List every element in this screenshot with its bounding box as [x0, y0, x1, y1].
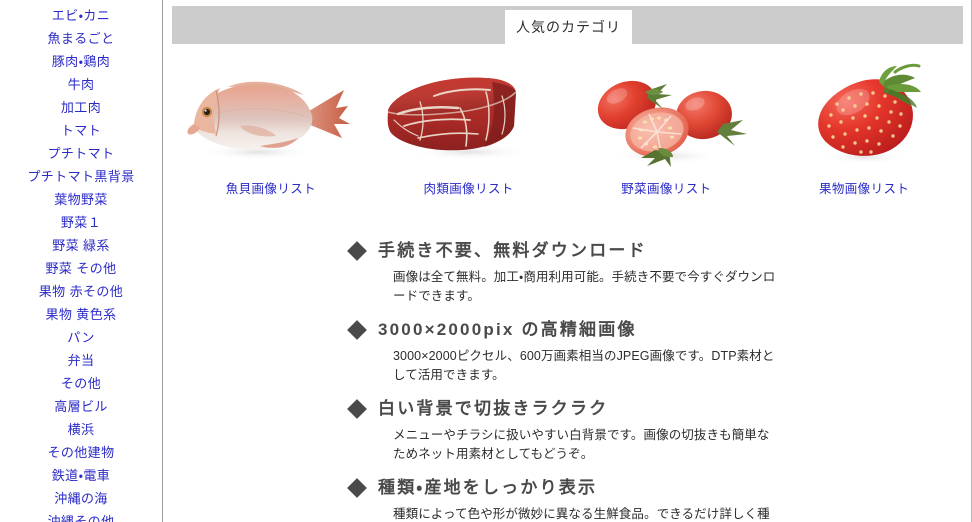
sidebar-item-fruits-yellow[interactable]: 果物 黄色系: [0, 303, 162, 326]
sidebar-item-yokohama[interactable]: 横浜: [0, 418, 162, 441]
diamond-bullet-icon: [347, 320, 367, 340]
sidebar-item-vegetables-other[interactable]: 野菜 その他: [0, 257, 162, 280]
category-thumbnail-strip: 魚貝画像リスト: [172, 62, 963, 202]
feature-white-background: 白い背景で切抜きラクラク メニューやチラシに扱いやすい白背景です。画像の切抜きも…: [350, 396, 800, 464]
feature-heading: 種類・産地をしっかり表示: [378, 475, 597, 501]
header-band: 人気のカテゴリ: [172, 6, 963, 44]
feature-heading: 手続き不要、無料ダウンロード: [378, 238, 647, 264]
tomatoes-icon: [571, 62, 761, 170]
beef-block-photo: [374, 62, 564, 170]
features-list: 手続き不要、無料ダウンロード 画像は全て無料。加工・商用利用可能。手続き不要で今…: [350, 238, 800, 522]
feature-heading: 3000×2000pix の高精細画像: [378, 317, 637, 343]
sea-bream-icon: [176, 62, 366, 170]
diamond-bullet-icon: [347, 478, 367, 498]
sidebar-item-butaniku-toriniku[interactable]: 豚肉・鶏肉: [0, 50, 162, 73]
feature-heading: 白い背景で切抜きラクラク: [378, 396, 608, 422]
feature-body: 画像は全て無料。加工・商用利用可能。手続き不要で今すぐダウンロードできます。: [393, 268, 778, 306]
sidebar-item-skyscraper[interactable]: 高層ビル: [0, 395, 162, 418]
sidebar-item-other[interactable]: その他: [0, 372, 162, 395]
sidebar-item-tomato[interactable]: トマト: [0, 119, 162, 142]
feature-variety-origin: 種類・産地をしっかり表示 種類によって色や形が微妙に異なる生鮮食品。できるだけ詳…: [350, 475, 800, 522]
feature-body: メニューやチラシに扱いやすい白背景です。画像の切抜きも簡単なためネット用素材とし…: [393, 426, 778, 464]
category-label-meat: 肉類画像リスト: [423, 178, 513, 197]
sidebar-item-sakana-marugoto[interactable]: 魚まるごと: [0, 27, 162, 50]
sidebar-item-okinawa-other[interactable]: 沖縄その他: [0, 510, 162, 522]
category-card-fruit[interactable]: 果物画像リスト: [765, 62, 963, 202]
feature-free-download: 手続き不要、無料ダウンロード 画像は全て無料。加工・商用利用可能。手続き不要で今…: [350, 238, 800, 306]
sidebar-item-ebi-kani[interactable]: エビ・カニ: [0, 4, 162, 27]
sidebar-item-railway-train[interactable]: 鉄道・電車: [0, 464, 162, 487]
sidebar-item-petit-tomato-black-bg[interactable]: プチトマト黒背景: [0, 165, 162, 188]
diamond-bullet-icon: [347, 241, 367, 261]
sidebar-item-petit-tomato[interactable]: プチトマト: [0, 142, 162, 165]
sidebar-item-okinawa-sea[interactable]: 沖縄の海: [0, 487, 162, 510]
category-card-fish[interactable]: 魚貝画像リスト: [172, 62, 370, 202]
sidebar-item-vegetables-1[interactable]: 野菜１: [0, 211, 162, 234]
page-root: エビ・カニ 魚まるごと 豚肉・鶏肉 牛肉 加工肉 トマト プチトマト プチトマト…: [0, 0, 972, 522]
feature-heading-row: 3000×2000pix の高精細画像: [350, 317, 800, 343]
tomatoes-photo: [571, 62, 761, 170]
sidebar-item-fruits-red-other[interactable]: 果物 赤その他: [0, 280, 162, 303]
feature-heading-row: 種類・産地をしっかり表示: [350, 475, 800, 501]
category-label-fish: 魚貝画像リスト: [226, 178, 316, 197]
sidebar-item-kakoniku[interactable]: 加工肉: [0, 96, 162, 119]
diamond-bullet-icon: [347, 399, 367, 419]
strawberry-icon: [769, 62, 959, 170]
category-label-fruit: 果物画像リスト: [819, 178, 909, 197]
sidebar-item-leafy-vegetables[interactable]: 葉物野菜: [0, 188, 162, 211]
category-label-vegetable: 野菜画像リスト: [621, 178, 711, 197]
feature-heading-row: 白い背景で切抜きラクラク: [350, 396, 800, 422]
sidebar-item-other-buildings[interactable]: その他建物: [0, 441, 162, 464]
feature-body: 種類によって色や形が微妙に異なる生鮮食品。できるだけ詳しく種類や産地を表示してい…: [393, 505, 778, 522]
category-card-vegetable[interactable]: 野菜画像リスト: [568, 62, 766, 202]
category-sidebar[interactable]: エビ・カニ 魚まるごと 豚肉・鶏肉 牛肉 加工肉 トマト プチトマト プチトマト…: [0, 0, 163, 522]
strawberry-photo: [769, 62, 959, 170]
feature-high-resolution: 3000×2000pix の高精細画像 3000×2000ピクセル、600万画素…: [350, 317, 800, 385]
beef-block-icon: [374, 62, 564, 170]
sidebar-item-vegetables-green[interactable]: 野菜 緑系: [0, 234, 162, 257]
page-title: 人気のカテゴリ: [516, 17, 621, 37]
page-title-box: 人気のカテゴリ: [505, 10, 632, 44]
feature-body: 3000×2000ピクセル、600万画素相当のJPEG画像です。DTP素材として…: [393, 347, 778, 385]
sidebar-item-gyuniku[interactable]: 牛肉: [0, 73, 162, 96]
category-card-meat[interactable]: 肉類画像リスト: [370, 62, 568, 202]
feature-heading-row: 手続き不要、無料ダウンロード: [350, 238, 800, 264]
sea-bream-photo: [176, 62, 366, 170]
sidebar-item-bread[interactable]: パン: [0, 326, 162, 349]
sidebar-item-bento[interactable]: 弁当: [0, 349, 162, 372]
